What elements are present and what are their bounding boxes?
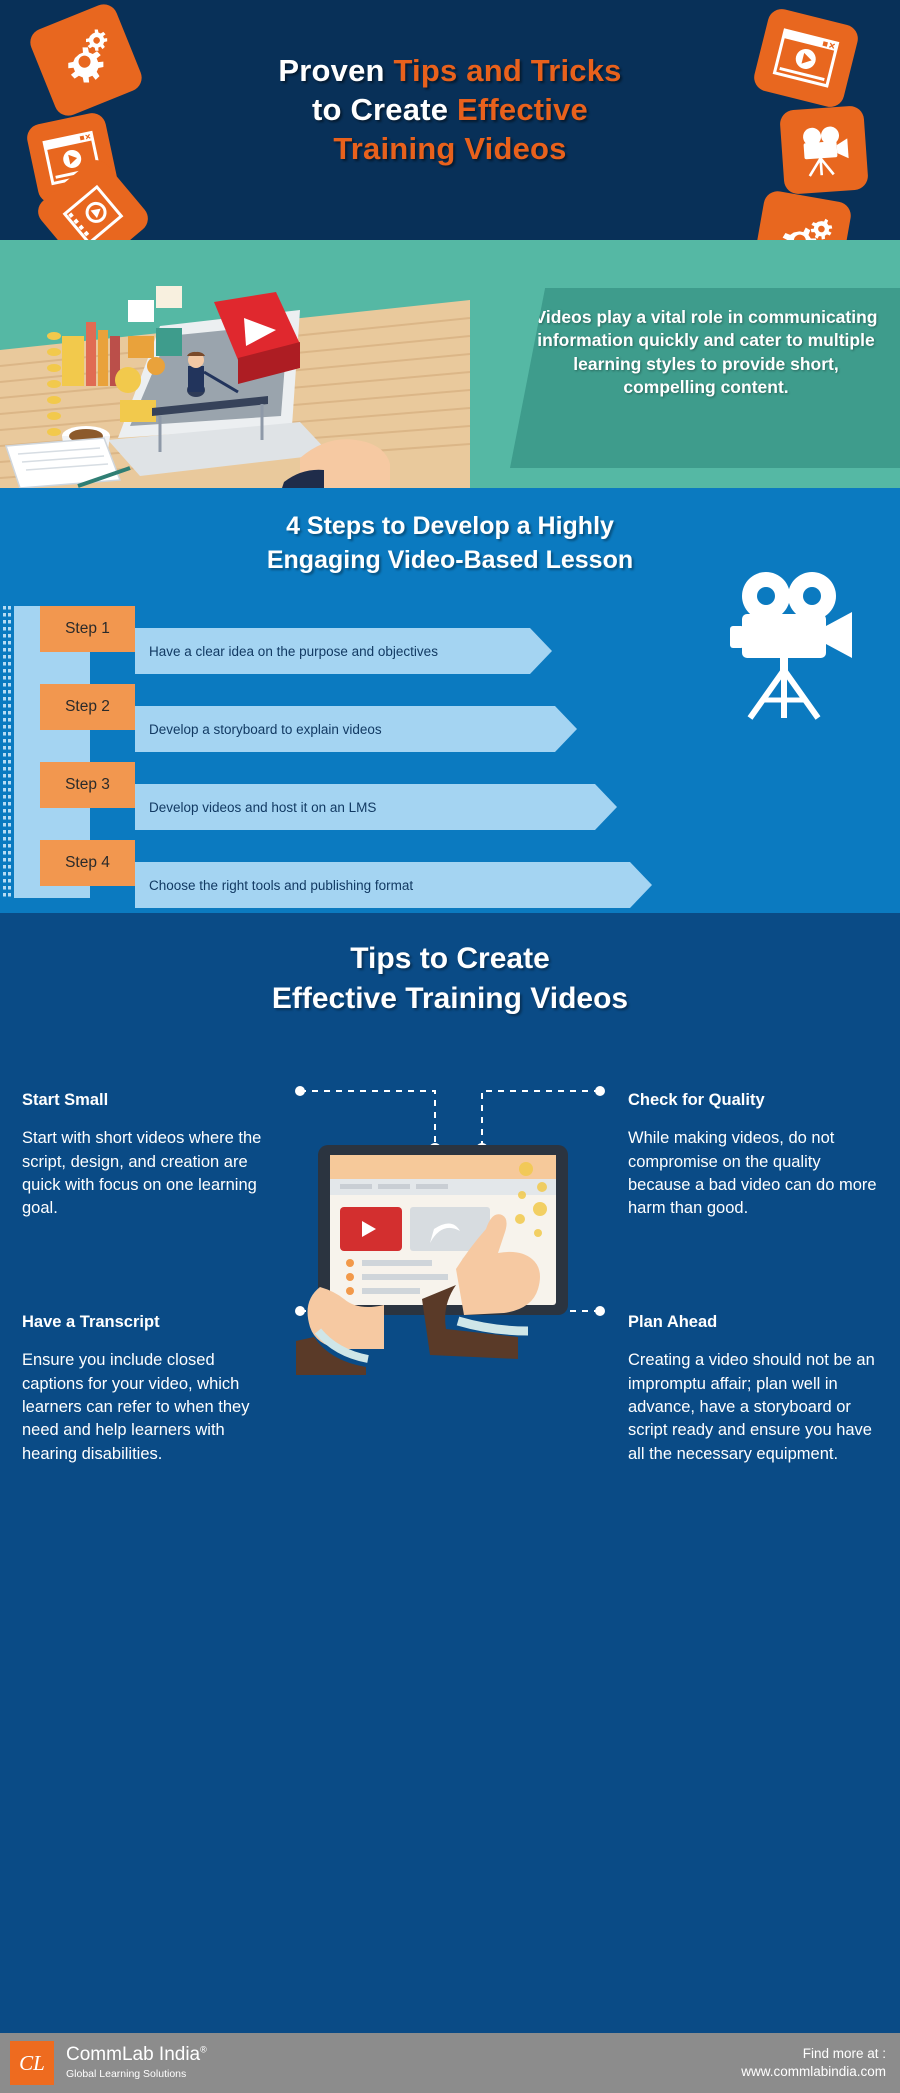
title-word-training-videos: Training Videos [333, 131, 566, 166]
steps-title-line-1: 4 Steps to Develop a Highly [0, 510, 900, 544]
tip-body: Creating a video should not be an improm… [628, 1349, 878, 1466]
step-chip[interactable]: Step 3 [40, 762, 135, 808]
tip-card-have-a-transcript: Have a Transcript Ensure you include clo… [22, 1313, 272, 1466]
step-arrow: Develop videos and host it on an LMS [135, 784, 595, 830]
tip-body: Start with short videos where the script… [22, 1127, 272, 1221]
step-chip-label: Step 2 [65, 698, 110, 716]
step-arrow: Choose the right tools and publishing fo… [135, 862, 630, 908]
footer-bar: CL CommLab India® Global Learning Soluti… [0, 2033, 900, 2093]
step-chip-label: Step 3 [65, 776, 110, 794]
header-section: Proven Tips and Tricks to Create Effecti… [0, 0, 900, 240]
infographic-page: Proven Tips and Tricks to Create Effecti… [0, 0, 900, 2093]
title-line-2: to Create Effective [0, 91, 900, 130]
step-text: Choose the right tools and publishing fo… [149, 878, 413, 893]
steps-section: 4 Steps to Develop a Highly Engaging Vid… [0, 488, 900, 913]
title-word-to-create: to Create [312, 92, 457, 127]
badge-gears-bottom-right [751, 189, 853, 240]
step-chip-label: Step 1 [65, 620, 110, 638]
quote-section: Videos play a vital role in communicatin… [0, 240, 900, 488]
title-word-tips-and-tricks: Tips and Tricks [393, 53, 621, 88]
step-chip[interactable]: Step 4 [40, 840, 135, 886]
step-chip-label: Step 4 [65, 854, 110, 872]
page-title: Proven Tips and Tricks to Create Effecti… [0, 52, 900, 168]
commlab-cl-monogram-icon: CL [10, 2041, 54, 2085]
website-link[interactable]: www.commlabindia.com [741, 2063, 886, 2081]
rail-dotted-line [3, 606, 11, 898]
desk-workspace-illustration [0, 240, 470, 488]
step-text: Have a clear idea on the purpose and obj… [149, 644, 438, 659]
tablet-in-hands-illustration [290, 1125, 610, 1375]
step-text: Develop videos and host it on an LMS [149, 800, 376, 815]
tip-card-start-small: Start Small Start with short videos wher… [22, 1091, 272, 1221]
footer-brand: CommLab India® Global Learning Solutions [66, 2045, 207, 2082]
quote-callout: Videos play a vital role in communicatin… [510, 288, 900, 468]
step-text: Develop a storyboard to explain videos [149, 722, 382, 737]
tips-section: Tips to Create Effective Training Videos [0, 913, 900, 2033]
brand-name-text: CommLab India [66, 2044, 200, 2065]
gears-icon [770, 210, 834, 240]
steps-title: 4 Steps to Develop a Highly Engaging Vid… [0, 510, 900, 577]
step-chip[interactable]: Step 1 [40, 606, 135, 652]
tip-title: Have a Transcript [22, 1313, 272, 1331]
arrow-tip-icon [630, 862, 652, 908]
logo-text: CL [19, 2051, 45, 2076]
quote-text: Videos play a vital role in communicatin… [535, 307, 878, 397]
tip-card-check-for-quality: Check for Quality While making videos, d… [628, 1091, 878, 1221]
tips-title-line-2: Effective Training Videos [0, 979, 900, 1019]
steps-rail: Step 1 Have a clear idea on the purpose … [0, 606, 900, 906]
arrow-tip-icon [530, 628, 552, 674]
step-arrow: Have a clear idea on the purpose and obj… [135, 628, 530, 674]
tips-title: Tips to Create Effective Training Videos [0, 939, 900, 1018]
step-arrow: Develop a storyboard to explain videos [135, 706, 555, 752]
tip-title: Check for Quality [628, 1091, 878, 1109]
brand-name: CommLab India® [66, 2045, 207, 2066]
title-line-3: Training Videos [0, 130, 900, 169]
arrow-tip-icon [555, 706, 577, 752]
tip-title: Start Small [22, 1091, 272, 1109]
tip-title: Plan Ahead [628, 1313, 878, 1331]
find-more-label: Find more at : [741, 2045, 886, 2063]
film-play-icon [58, 180, 128, 240]
footer-contact: Find more at : www.commlabindia.com [741, 2045, 886, 2081]
title-line-1: Proven Tips and Tricks [0, 52, 900, 91]
arrow-tip-icon [595, 784, 617, 830]
tip-body: While making videos, do not compromise o… [628, 1127, 878, 1221]
brand-tagline: Global Learning Solutions [66, 2068, 207, 2082]
step-chip[interactable]: Step 2 [40, 684, 135, 730]
title-word-effective: Effective [457, 92, 588, 127]
tips-title-line-1: Tips to Create [0, 939, 900, 979]
registered-mark-icon: ® [200, 2044, 207, 2054]
tip-body: Ensure you include closed captions for y… [22, 1349, 272, 1466]
tip-card-plan-ahead: Plan Ahead Creating a video should not b… [628, 1313, 878, 1466]
title-word-proven: Proven [278, 53, 393, 88]
